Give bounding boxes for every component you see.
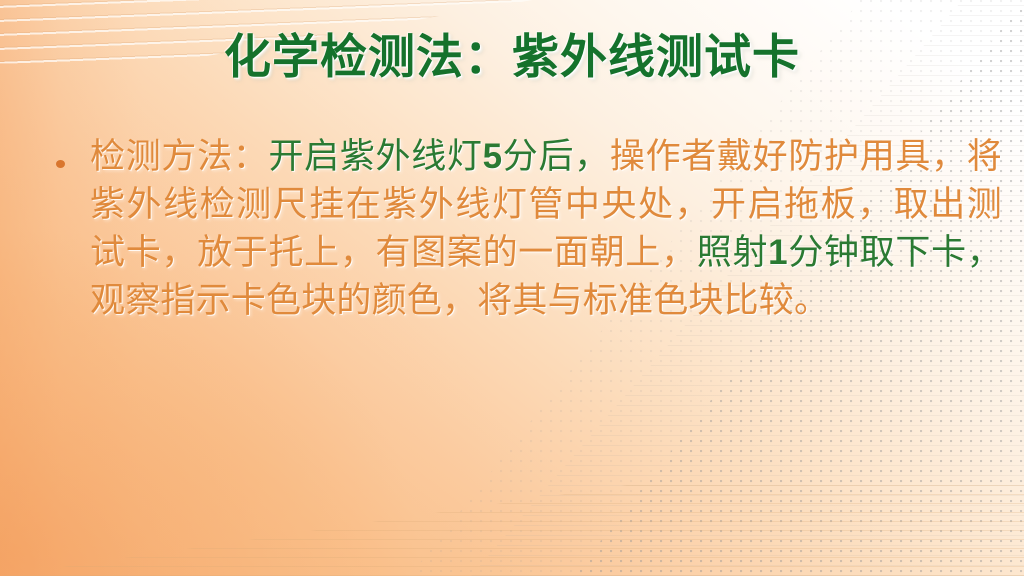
body-text-segment: 分钟取下卡， (788, 233, 1002, 272)
body-text-segment: 照射 (697, 233, 768, 272)
body-bullet-item: 检测方法：开启紫外线灯5分后，操作者戴好防护用具，将紫外线检测尺挂在紫外线灯管中… (56, 133, 1002, 325)
body-text-segment: 1 (768, 233, 788, 272)
slide-canvas: 化学检测法：紫外线测试卡 检测方法：开启紫外线灯5分后，操作者戴好防护用具，将紫… (0, 0, 1024, 576)
body-text-segment: 检测方法： (90, 137, 268, 176)
slide-title: 化学检测法：紫外线测试卡 (0, 32, 1024, 83)
slide-content: 化学检测法：紫外线测试卡 检测方法：开启紫外线灯5分后，操作者戴好防护用具，将紫… (0, 0, 1024, 576)
bullet-marker (56, 133, 90, 172)
body-text-segment: 5 (483, 137, 503, 176)
body-text-segment: 开启紫外线灯 (268, 137, 482, 176)
body-text-segment: 观察指示卡色块的颜色，将其与标准色块比较。 (90, 281, 829, 320)
body-paragraph: 检测方法：开启紫外线灯5分后，操作者戴好防护用具，将紫外线检测尺挂在紫外线灯管中… (90, 133, 1002, 325)
body-text-segment: 分后， (502, 137, 610, 176)
bullet-dot-icon (56, 160, 65, 168)
